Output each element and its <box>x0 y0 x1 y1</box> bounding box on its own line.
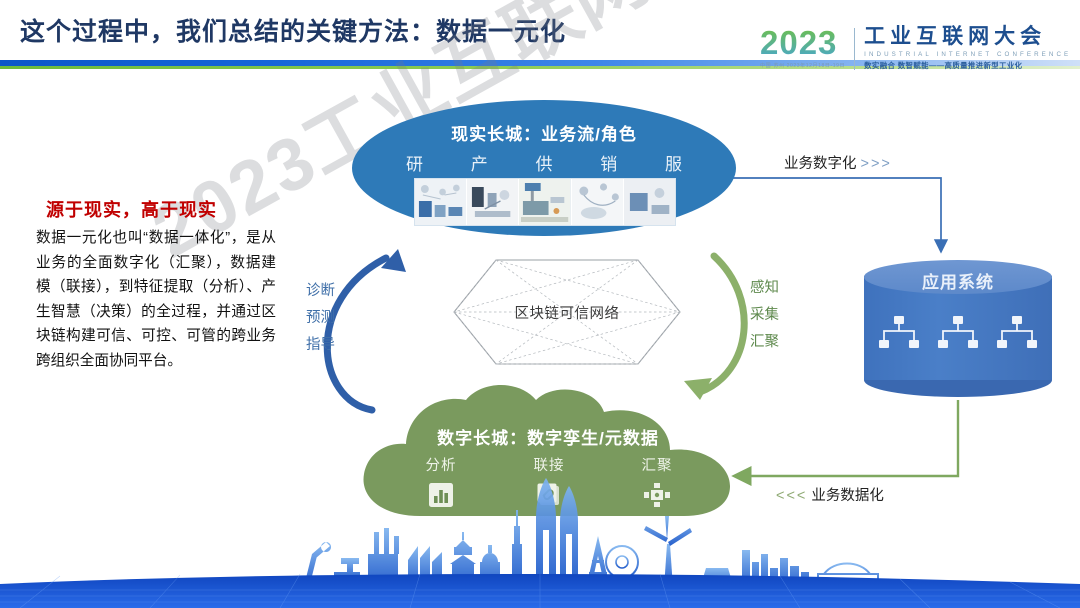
forward-connector-arrow <box>733 178 941 246</box>
aggregate-icon <box>620 482 694 508</box>
backward-connector-arrow <box>742 400 958 476</box>
logo-name-block: 工业互联网大会 INDUSTRIAL INTERNET CONFERENCE 数… <box>864 26 1071 71</box>
backward-chevrons: <<< <box>776 488 807 504</box>
app-system-nodes <box>876 316 1040 350</box>
digital-cloud-title: 数字长城：数字孪生/元数据 <box>358 424 738 449</box>
network-node-icon <box>994 316 1040 350</box>
logo-year-block: 2023 中国·苏州 2023年12月18日-19日 <box>760 26 845 69</box>
conference-logo: 2023 中国·苏州 2023年12月18日-19日 工业互联网大会 INDUS… <box>760 26 1071 71</box>
forward-connector-label: 业务数字化>>> <box>784 152 892 173</box>
cloud-item-analysis: 分析 <box>404 454 478 508</box>
forward-connector-text: 业务数字化 <box>784 156 857 172</box>
industry-photo-strip <box>414 178 676 226</box>
logo-name-cn: 工业互联网大会 <box>864 26 1071 48</box>
cycle-left-labels: 诊断 预测 指导 <box>306 278 335 358</box>
blockchain-network: 区块链可信网络 <box>452 258 682 366</box>
cloud-item-label: 分析 <box>404 454 478 475</box>
reality-ellipse-title: 现实长城：业务流/角色 <box>352 120 736 145</box>
logo-divider <box>854 28 855 70</box>
cycle-right-item: 汇聚 <box>750 329 779 356</box>
photo-thumb <box>415 179 467 225</box>
cycle-right-item: 采集 <box>750 302 779 329</box>
sea-band <box>0 574 1080 608</box>
bar-chart-icon <box>404 482 478 508</box>
backward-connector-label: <<<业务数据化 <box>776 484 884 505</box>
app-system-cylinder: 应用系统 <box>864 260 1052 396</box>
forward-chevrons: >>> <box>861 156 892 172</box>
cycle-left-item: 预测 <box>306 305 335 332</box>
photo-thumb <box>572 179 624 225</box>
cycle-right-labels: 感知 采集 汇聚 <box>750 275 779 355</box>
logo-tagline: 数实融合 数智赋能——高质量推进新型工业化 <box>864 60 1071 71</box>
slide-canvas: 这个过程中，我们总结的关键方法：数据一元化 2023 中国·苏州 2023年12… <box>0 0 1080 608</box>
cycle-right-arc <box>700 256 744 392</box>
role-item: 销 <box>600 150 617 175</box>
cycle-right-item: 感知 <box>750 275 779 302</box>
logo-name-en: INDUSTRIAL INTERNET CONFERENCE <box>864 51 1071 58</box>
logo-year-subtitle: 中国·苏州 2023年12月18日-19日 <box>760 62 845 69</box>
backward-connector-text: 业务数据化 <box>811 488 884 504</box>
role-item: 供 <box>536 150 553 175</box>
sea-grid <box>0 574 1080 608</box>
cloud-item-label: 汇聚 <box>620 454 694 475</box>
digital-cloud-items: 分析 联接 <box>404 454 694 508</box>
left-panel-heading: 源于现实，高于现实 <box>46 196 217 222</box>
cloud-item-connect: 联接 <box>512 454 586 508</box>
cycle-left-item: 诊断 <box>306 278 335 305</box>
role-item: 研 <box>406 150 423 175</box>
photo-thumb <box>519 179 571 225</box>
reality-ellipse: 现实长城：业务流/角色 研 产 供 销 服 <box>352 100 736 236</box>
left-panel-body: 数据一元化也叫“数据一体化”，是从业务的全面数字化（汇聚），数据建模（联接），到… <box>36 226 276 373</box>
digital-cloud: 数字长城：数字孪生/元数据 分析 联接 <box>358 384 738 530</box>
cloud-item-aggregate: 汇聚 <box>620 454 694 508</box>
network-node-icon <box>935 316 981 350</box>
reality-role-list: 研 产 供 销 服 <box>406 150 682 175</box>
role-item: 产 <box>471 150 488 175</box>
photo-thumb <box>624 179 675 225</box>
role-item: 服 <box>665 150 682 175</box>
cycle-left-item: 指导 <box>306 332 335 359</box>
photo-thumb <box>467 179 519 225</box>
blockchain-network-label: 区块链可信网络 <box>452 302 682 323</box>
page-title: 这个过程中，我们总结的关键方法：数据一元化 <box>20 12 566 48</box>
cycle-left-arrowhead <box>381 249 406 272</box>
network-node-icon <box>876 316 922 350</box>
app-system-title: 应用系统 <box>864 268 1052 293</box>
link-icon <box>512 482 586 508</box>
logo-year: 2023 <box>760 26 845 59</box>
cloud-item-label: 联接 <box>512 454 586 475</box>
